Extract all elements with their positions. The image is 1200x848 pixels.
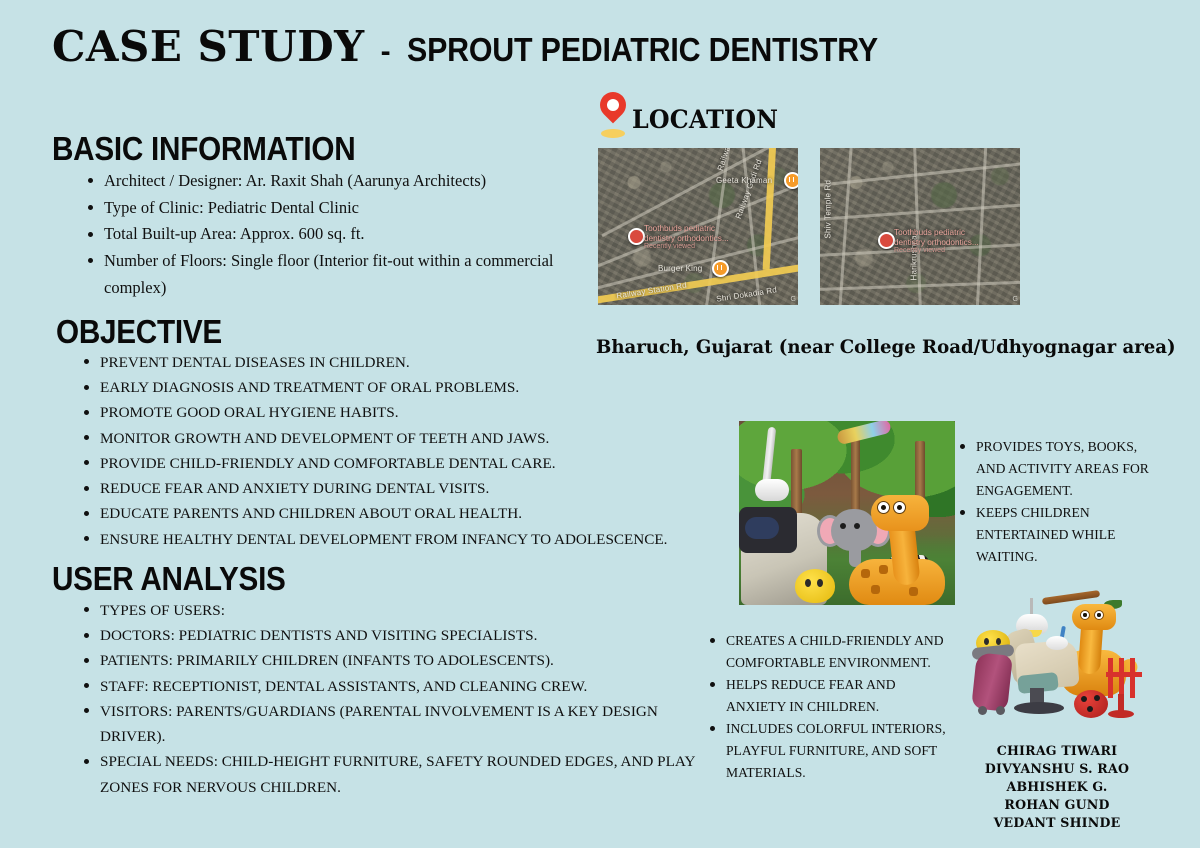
title-main: CASE STUDY bbox=[52, 26, 365, 68]
list-item: Visitors: Parents/guardians (parental in… bbox=[84, 699, 704, 749]
environment-notes-list: Creates a child-friendly and comfortable… bbox=[702, 630, 948, 784]
list-item: Reduce fear and anxiety during dental vi… bbox=[84, 476, 784, 501]
giraffe-spot bbox=[871, 585, 880, 594]
objective-list: Prevent dental diseases in children. Ear… bbox=[60, 350, 784, 552]
map-poi-pin-clinic[interactable] bbox=[878, 232, 895, 249]
elephant-eye-left bbox=[840, 523, 846, 529]
clinic-label-sub: Recently viewed bbox=[894, 247, 979, 255]
list-item: Early diagnosis and treatment of oral pr… bbox=[84, 375, 784, 400]
map-poi-pin-restaurant[interactable] bbox=[712, 260, 729, 277]
list-item: Type of Clinic: Pediatric Dental Clinic bbox=[88, 195, 608, 222]
list-item: Educate parents and children about oral … bbox=[84, 501, 784, 526]
list-item: Types of users: bbox=[84, 598, 704, 623]
giraffe-character bbox=[855, 489, 955, 605]
chair-base bbox=[1014, 702, 1064, 714]
ladybug-stool bbox=[1074, 690, 1108, 718]
toys-notes-list: Provides toys, books, and activity areas… bbox=[952, 436, 1160, 568]
user-analysis-list: Types of users: Doctors: Pediatric denti… bbox=[60, 598, 704, 800]
map-clinic-label: Toothbuds pediatric dentistry orthodonti… bbox=[644, 224, 729, 252]
cart-wheel bbox=[996, 706, 1005, 715]
map-poi-pin-clinic[interactable] bbox=[628, 228, 645, 245]
giraffe-eye-left bbox=[1080, 610, 1090, 620]
yellow-toy-ball bbox=[795, 569, 835, 603]
case-study-poster: CASE STUDY - SPROUT PEDIATRIC DENTISTRY … bbox=[0, 0, 1200, 848]
list-item: Patients: Primarily children (infants to… bbox=[84, 648, 704, 673]
clinic-label-line-1: Toothbuds pediatric bbox=[894, 228, 979, 238]
cart-wheel bbox=[978, 706, 987, 715]
red-fence-base bbox=[1108, 710, 1134, 718]
list-item: Ensure healthy dental development from i… bbox=[84, 527, 784, 552]
list-item: Total Built-up Area: Approx. 600 sq. ft. bbox=[88, 221, 608, 248]
title-subtitle: SPROUT PEDIATRIC DENTISTRY bbox=[407, 33, 878, 66]
map-clinic-label: Toothbuds pediatric dentistry orthodonti… bbox=[894, 228, 979, 256]
spittoon-bowl bbox=[1046, 636, 1068, 650]
page-title: CASE STUDY - SPROUT PEDIATRIC DENTISTRY bbox=[52, 26, 918, 69]
lamp-arm bbox=[1042, 590, 1100, 605]
credit-name: ROHAN GUND bbox=[962, 796, 1152, 814]
giraffe-spot bbox=[861, 569, 870, 578]
clinic-label-sub: Recently viewed bbox=[644, 243, 729, 251]
map-poi-label: Geeta Khaman bbox=[716, 176, 772, 185]
map-pin-body bbox=[595, 87, 632, 124]
credit-name: CHIRAG TIWARI bbox=[962, 742, 1152, 760]
map-poi-pin-restaurant[interactable] bbox=[784, 172, 798, 189]
list-item: Staff: Receptionist, dental assistants, … bbox=[84, 674, 704, 699]
list-item: Helps reduce fear and anxiety in childre… bbox=[710, 674, 948, 718]
purple-cart bbox=[971, 652, 1013, 711]
dental-lamp-head bbox=[755, 479, 789, 501]
clinic-interior-photo bbox=[739, 421, 955, 605]
basic-information-list: Architect / Designer: Ar. Raxit Shah (Aa… bbox=[64, 168, 608, 302]
list-item: Architect / Designer: Ar. Raxit Shah (Aa… bbox=[88, 168, 608, 195]
basic-information-heading: BASIC INFORMATION bbox=[52, 132, 355, 165]
giraffe-spot bbox=[909, 587, 918, 596]
list-item: Includes colorful interiors, playful fur… bbox=[710, 718, 948, 784]
ladybug-spot bbox=[1094, 695, 1100, 701]
list-item: Keeps children entertained while waiting… bbox=[960, 502, 1160, 568]
clinic-label-line-2: dentistry orthodontics... bbox=[644, 234, 729, 244]
giraffe-eye-right bbox=[893, 501, 906, 514]
clinic-label-line-1: Toothbuds pediatric bbox=[644, 224, 729, 234]
map-attribution: G bbox=[1013, 296, 1018, 303]
credits-block: CHIRAG TIWARI DIVYANSHU S. RAO ABHISHEK … bbox=[962, 742, 1152, 831]
objective-heading: OBJECTIVE bbox=[56, 315, 222, 348]
user-analysis-heading: USER ANALYSIS bbox=[52, 562, 286, 595]
map-attribution: G bbox=[791, 296, 796, 303]
map-street-label: Shiv Temple Rd bbox=[824, 180, 833, 239]
red-fence bbox=[1108, 658, 1140, 698]
dental-chair-headrest bbox=[745, 517, 779, 539]
clinic-label-line-2: dentistry orthodontics... bbox=[894, 238, 979, 248]
map-wide[interactable]: Shiv Temple Rd Harikrushna Toothbuds ped… bbox=[820, 148, 1020, 305]
ladybug-spot bbox=[1087, 706, 1093, 712]
list-item: Special needs: Child-height furniture, s… bbox=[84, 749, 704, 799]
list-item: Doctors: Pediatric dentists and visiting… bbox=[84, 623, 704, 648]
title-separator: - bbox=[379, 35, 393, 69]
giraffe-spot bbox=[879, 565, 888, 574]
location-header: LOCATION bbox=[596, 92, 786, 138]
map-poi-label: Burger King bbox=[658, 264, 702, 273]
list-item: Monitor growth and development of teeth … bbox=[84, 426, 784, 451]
red-fence-rail bbox=[1106, 672, 1142, 677]
credit-name: VEDANT SHINDE bbox=[962, 814, 1152, 832]
list-item: Promote good oral hygiene habits. bbox=[84, 400, 784, 425]
credit-name: DIVYANSHU S. RAO bbox=[962, 760, 1152, 778]
list-item: Creates a child-friendly and comfortable… bbox=[710, 630, 948, 674]
list-item: Provides toys, books, and activity areas… bbox=[960, 436, 1160, 502]
ladybug-spot bbox=[1081, 696, 1087, 702]
location-label: LOCATION bbox=[632, 107, 778, 138]
map-pin-icon bbox=[596, 92, 630, 138]
dental-chair-illustration bbox=[968, 592, 1140, 732]
map-closeup[interactable]: Railway Godi Rd Railway Godi Rd Railway … bbox=[598, 148, 798, 305]
giraffe-eye-right bbox=[1094, 610, 1104, 620]
map-pin-shadow bbox=[601, 129, 625, 138]
credit-name: ABHISHEK G. bbox=[962, 778, 1152, 796]
list-item: Provide child-friendly and comfortable d… bbox=[84, 451, 784, 476]
list-item: Number of Floors: Single floor (Interior… bbox=[88, 248, 608, 301]
giraffe-eye-left bbox=[877, 501, 890, 514]
location-caption: Bharuch, Gujarat (near College Road/Udhy… bbox=[596, 337, 1176, 358]
